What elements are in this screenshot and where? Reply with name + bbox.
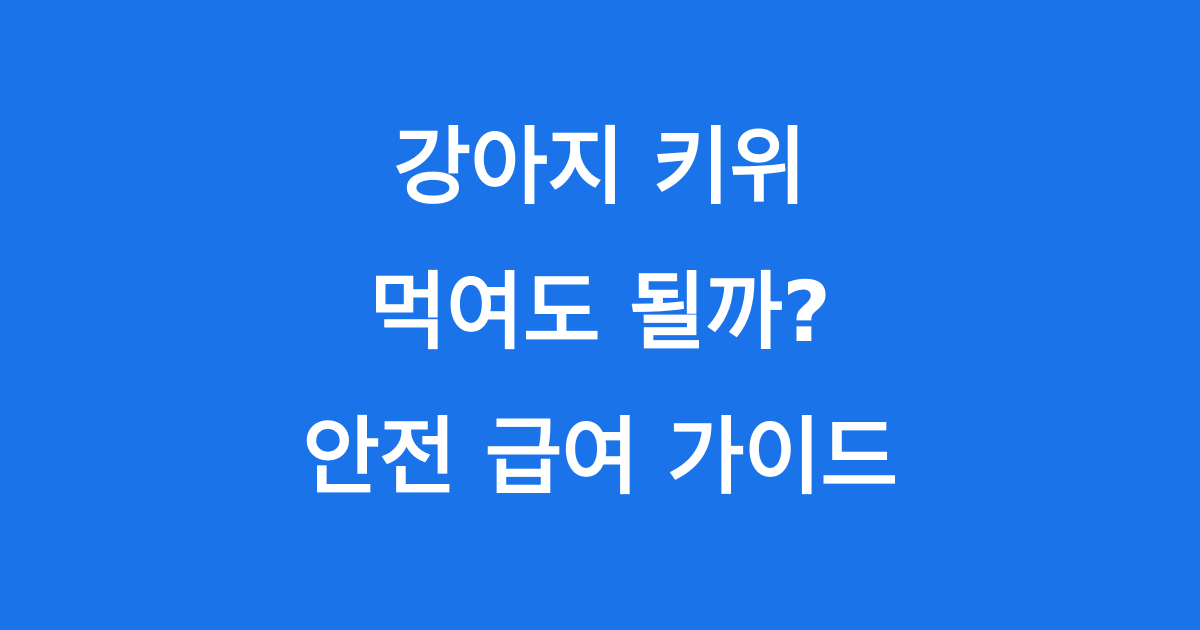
headline-line-1: 강아지 키위 (40, 95, 1160, 240)
headline-line-2: 먹여도 될까? (40, 240, 1160, 385)
headline-block: 강아지 키위 먹여도 될까? 안전 급여 가이드 (0, 95, 1200, 530)
headline-line-3: 안전 급여 가이드 (40, 385, 1160, 530)
thumbnail-card: 강아지 키위 먹여도 될까? 안전 급여 가이드 (0, 0, 1200, 630)
